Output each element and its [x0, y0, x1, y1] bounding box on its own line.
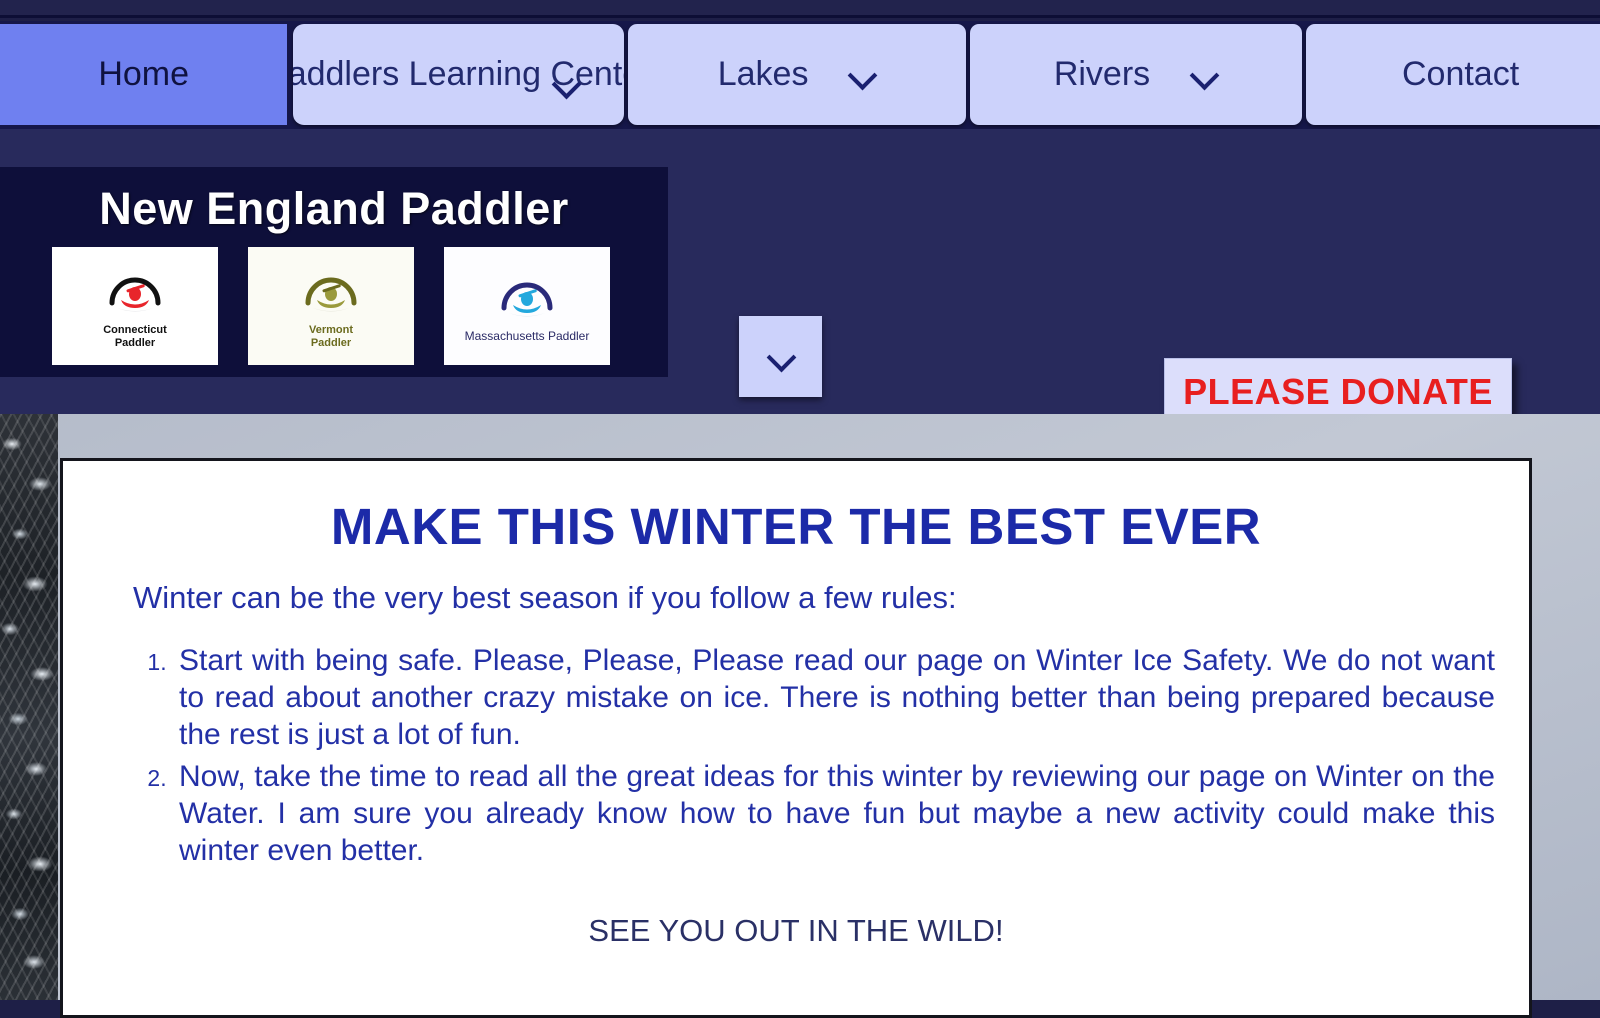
nav-item-contact-label: Contact	[1402, 56, 1519, 93]
top-accent-strip	[0, 0, 1600, 18]
logo-card-connecticut[interactable]: Connecticut Paddler	[52, 247, 218, 365]
list-item: Start with being safe. Please, Please, P…	[173, 642, 1495, 754]
site-banner-band: New England Paddler Connecticut Paddler	[0, 129, 1600, 414]
massachusetts-paddler-icon	[496, 272, 558, 326]
main-content-card: MAKE THIS WINTER THE BEST EVER Winter ca…	[60, 458, 1532, 1018]
chevron-down-icon[interactable]	[848, 61, 876, 89]
chevron-down-icon[interactable]	[552, 70, 580, 98]
intro-text: Winter can be the very best season if yo…	[133, 580, 1495, 616]
banner-dropdown-toggle[interactable]	[739, 316, 822, 397]
nav-item-home-label: Home	[98, 56, 189, 93]
logo-card-vermont[interactable]: Vermont Paddler	[248, 247, 414, 365]
nav-item-lakes-label: Lakes	[718, 56, 809, 93]
site-title: New England Paddler	[0, 183, 668, 235]
page-title: MAKE THIS WINTER THE BEST EVER	[97, 497, 1495, 556]
list-item: Now, take the time to read all the great…	[173, 758, 1495, 870]
state-logo-row: Connecticut Paddler Vermont Paddler	[0, 235, 668, 365]
nav-item-paddlers-learning-center[interactable]: Paddlers Learning Center	[293, 24, 624, 125]
nav-item-rivers[interactable]: Rivers	[970, 24, 1302, 125]
closing-text: SEE YOU OUT IN THE WILD!	[97, 913, 1495, 949]
connecticut-paddler-icon	[104, 267, 166, 321]
chevron-down-icon	[767, 343, 795, 371]
logo-caption-connecticut: Connecticut Paddler	[103, 324, 167, 350]
logo-caption-vermont: Vermont Paddler	[309, 324, 353, 350]
logo-caption-massachusetts: Massachusetts Paddler	[465, 329, 590, 343]
brand-box[interactable]: New England Paddler Connecticut Paddler	[0, 167, 668, 377]
nav-item-lakes[interactable]: Lakes	[628, 24, 966, 125]
winter-rules-list: Start with being safe. Please, Please, P…	[173, 642, 1495, 869]
chevron-down-icon[interactable]	[1190, 61, 1218, 89]
nav-item-contact[interactable]: Contact	[1306, 24, 1600, 125]
snowy-trees-photo-strip	[0, 414, 58, 1000]
logo-card-massachusetts[interactable]: Massachusetts Paddler	[444, 247, 610, 365]
vermont-paddler-icon	[300, 267, 362, 321]
main-navigation: Home Paddlers Learning Center Lakes Rive…	[0, 21, 1600, 129]
nav-item-rivers-label: Rivers	[1054, 56, 1150, 93]
nav-item-home[interactable]: Home	[0, 24, 287, 125]
